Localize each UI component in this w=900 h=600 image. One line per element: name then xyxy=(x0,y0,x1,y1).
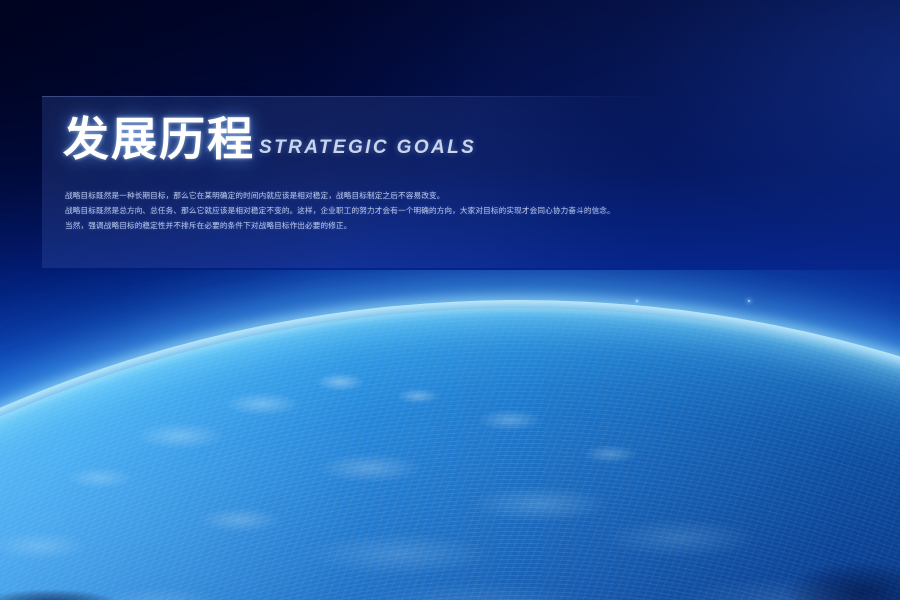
banner-description-line: 战略目标既然是一种长期目标，那么它在某明确定的时间内就应该是相对稳定，战略目标制… xyxy=(65,188,585,203)
banner-heading: 发展历程 STRATEGIC GOALS xyxy=(63,116,476,162)
earth-sphere xyxy=(0,308,900,600)
page-subtitle: STRATEGIC GOALS xyxy=(259,137,476,162)
page-title: 发展历程 xyxy=(63,116,255,162)
banner-description: 战略目标既然是一种长期目标，那么它在某明确定的时间内就应该是相对稳定，战略目标制… xyxy=(65,188,585,233)
hero-banner-stage: 发展历程 STRATEGIC GOALS 战略目标既然是一种长期目标，那么它在某… xyxy=(0,0,900,600)
earth-illustration xyxy=(0,270,900,600)
banner-description-line: 战略目标既然是总方向、总任务、那么它就应该是相对稳定不变的。这样，企业职工的努力… xyxy=(65,203,585,218)
banner-description-line: 当然，强调战略目标的稳定性并不排斥在必要的条件下对战略目标作出必要的修正。 xyxy=(65,218,585,233)
